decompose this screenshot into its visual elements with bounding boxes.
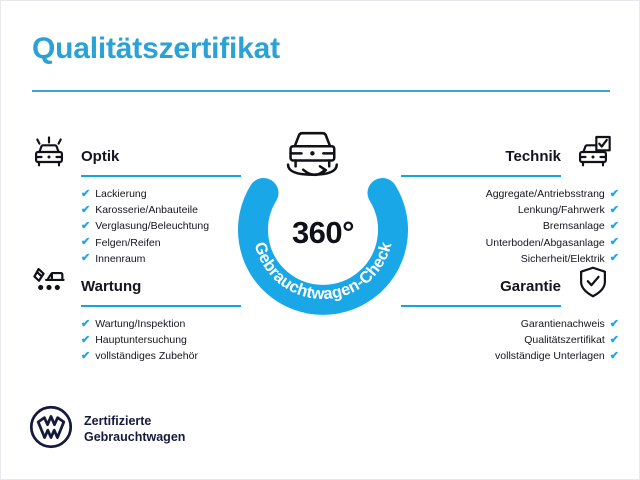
list-item: ✔Karosserie/Anbauteile <box>81 202 241 218</box>
list-item-label: Wartung/Inspektion <box>95 316 185 332</box>
volkswagen-logo-icon <box>29 405 73 454</box>
section-garantie-title: Garantie <box>500 278 561 295</box>
list-item: ✔Felgen/Reifen <box>81 235 241 251</box>
section-technik-header: Technik <box>401 129 619 175</box>
section-optik-divider <box>81 175 241 177</box>
section-optik: Optik ✔Lackierung ✔Karosserie/Anbauteile… <box>23 129 241 267</box>
section-wartung-list: ✔Wartung/Inspektion ✔Hauptuntersuchung ✔… <box>81 316 241 365</box>
list-item: Bremsanlage✔ <box>401 218 619 234</box>
check-icon: ✔ <box>610 319 619 330</box>
section-technik-title: Technik <box>505 148 561 165</box>
shield-check-icon <box>567 259 619 305</box>
list-item-label: Garantienachweis <box>521 316 605 332</box>
list-item-label: Lackierung <box>95 186 146 202</box>
list-item-label: Felgen/Reifen <box>95 235 160 251</box>
page-title: Qualitätszertifikat <box>32 32 280 66</box>
section-optik-list: ✔Lackierung ✔Karosserie/Anbauteile ✔Verg… <box>81 186 241 267</box>
list-item-label: Lenkung/Fahrwerk <box>518 202 605 218</box>
rotating-car-icon <box>288 133 337 175</box>
section-garantie: Garantie Garantienachweis✔ Qualitätszert… <box>401 259 619 365</box>
check-icon: ✔ <box>610 205 619 216</box>
list-item: ✔vollständiges Zubehör <box>81 348 241 364</box>
title-divider <box>32 90 610 92</box>
check-icon: ✔ <box>610 237 619 248</box>
list-item-label: vollständiges Zubehör <box>95 348 198 364</box>
wrench-car-service-icon <box>23 259 75 305</box>
section-garantie-list: Garantienachweis✔ Qualitätszertifikat✔ v… <box>401 316 619 365</box>
list-item: Garantienachweis✔ <box>401 316 619 332</box>
list-item: vollständige Unterlagen✔ <box>401 348 619 364</box>
section-garantie-header: Garantie <box>401 259 619 305</box>
list-item: Aggregate/Antriebsstrang✔ <box>401 186 619 202</box>
section-wartung: Wartung ✔Wartung/Inspektion ✔Hauptunters… <box>23 259 241 365</box>
footer-line-2: Gebrauchtwagen <box>84 430 185 444</box>
list-item: Lenkung/Fahrwerk✔ <box>401 202 619 218</box>
section-wartung-divider <box>81 305 241 307</box>
section-technik-divider <box>401 175 561 177</box>
list-item: ✔Lackierung <box>81 186 241 202</box>
list-item-label: Hauptuntersuchung <box>95 332 187 348</box>
check-icon: ✔ <box>610 221 619 232</box>
section-garantie-divider <box>401 305 561 307</box>
list-item: Unterboden/Abgasanlage✔ <box>401 235 619 251</box>
check-icon: ✔ <box>610 351 619 362</box>
list-item-label: Karosserie/Anbauteile <box>95 202 198 218</box>
section-technik-list: Aggregate/Antriebsstrang✔ Lenkung/Fahrwe… <box>401 186 619 267</box>
check-icon: ✔ <box>81 221 90 232</box>
list-item: ✔Verglasung/Beleuchtung <box>81 218 241 234</box>
list-item: ✔Hauptuntersuchung <box>81 332 241 348</box>
check-icon: ✔ <box>610 335 619 346</box>
section-wartung-header: Wartung <box>23 259 241 305</box>
footer-line-1: Zertifizierte <box>84 414 151 428</box>
check-icon: ✔ <box>81 189 90 200</box>
list-item-label: Unterboden/Abgasanlage <box>486 235 605 251</box>
quality-certificate-page: Qualitätszertifikat Opt <box>0 0 640 480</box>
list-item: Qualitätszertifikat✔ <box>401 332 619 348</box>
section-technik: Technik Aggregate/Antriebsstrang✔ Lenkun… <box>401 129 619 267</box>
list-item: ✔Wartung/Inspektion <box>81 316 241 332</box>
list-item-label: Qualitätszertifikat <box>524 332 605 348</box>
check-icon: ✔ <box>81 205 90 216</box>
volkswagen-footer-logo: Zertifizierte Gebrauchtwagen <box>29 405 185 454</box>
section-optik-title: Optik <box>81 148 119 165</box>
badge-degrees-label: 360° <box>225 215 421 251</box>
check-icon: ✔ <box>81 351 90 362</box>
section-optik-header: Optik <box>23 129 241 175</box>
check-icon: ✔ <box>81 335 90 346</box>
list-item-label: Bremsanlage <box>543 218 605 234</box>
check-icon: ✔ <box>610 189 619 200</box>
360-gebrauchtwagen-check-badge: Gebrauchtwagen-Check 360° <box>225 117 421 317</box>
list-item-label: Aggregate/Antriebsstrang <box>486 186 605 202</box>
check-icon: ✔ <box>81 237 90 248</box>
sparkling-car-front-icon <box>23 129 75 175</box>
check-icon: ✔ <box>81 319 90 330</box>
section-wartung-title: Wartung <box>81 278 141 295</box>
list-item-label: Verglasung/Beleuchtung <box>95 218 209 234</box>
volkswagen-logo-wordmark: Zertifizierte Gebrauchtwagen <box>84 414 185 445</box>
list-item-label: vollständige Unterlagen <box>495 348 605 364</box>
car-checkbox-icon <box>567 129 619 175</box>
